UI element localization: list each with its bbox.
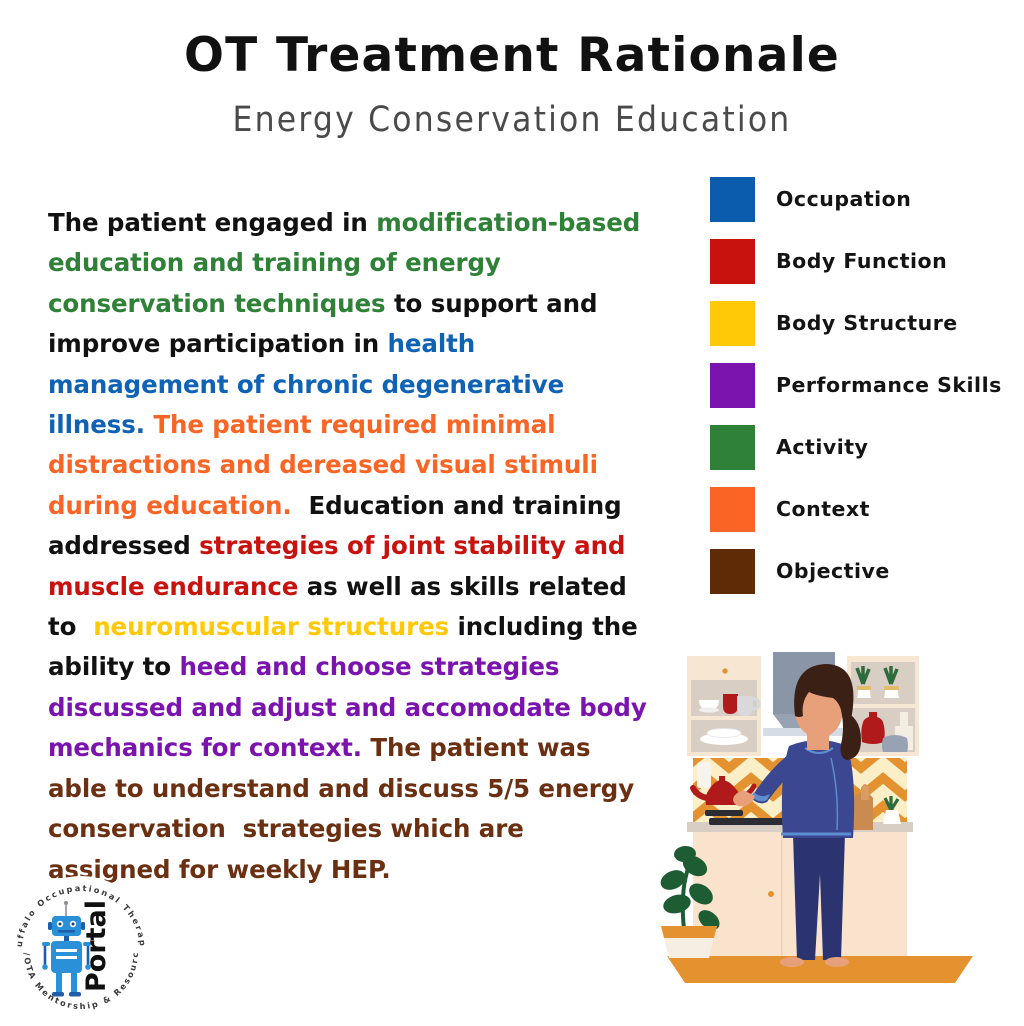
- legend-label: Body Function: [776, 249, 947, 273]
- legend-swatch-icon: [710, 239, 755, 284]
- header: OT Treatment Rationale Energy Conservati…: [0, 0, 1024, 140]
- logo-wordmark: Portal: [81, 900, 112, 992]
- legend-swatch-icon: [710, 301, 755, 346]
- legend-swatch-icon: [710, 425, 755, 470]
- legend-label: Activity: [776, 435, 868, 459]
- kitchen-scene-svg: [655, 638, 985, 983]
- rationale-segment-9: neuromuscular structures: [85, 612, 449, 641]
- legend-label: Body Structure: [776, 311, 958, 335]
- legend-item-objective: Objective: [710, 540, 1010, 602]
- legend-item-body-function: Body Function: [710, 230, 1010, 292]
- legend-swatch-icon: [710, 487, 755, 532]
- rationale-segment-0: The patient engaged in: [48, 208, 376, 237]
- legend-label: Occupation: [776, 187, 911, 211]
- legend-swatch-icon: [710, 363, 755, 408]
- legend-swatch-icon: [710, 549, 755, 594]
- legend-label: Performance Skills: [776, 373, 1002, 397]
- legend-swatch-icon: [710, 177, 755, 222]
- legend-item-performance-skills: Performance Skills: [710, 354, 1010, 416]
- legend: OccupationBody FunctionBody StructurePer…: [710, 168, 1010, 602]
- rationale-paragraph: The patient engaged in modification-base…: [48, 203, 648, 890]
- legend-item-occupation: Occupation: [710, 168, 1010, 230]
- logo-svg: Buffalo Occupational Therapy OT/OTA Ment…: [6, 872, 156, 1022]
- kitchen-illustration: [655, 638, 985, 983]
- legend-item-body-structure: Body Structure: [710, 292, 1010, 354]
- buffalo-ot-portal-logo: Buffalo Occupational Therapy OT/OTA Ment…: [6, 872, 156, 1022]
- page-subtitle: Energy Conservation Education: [0, 83, 1024, 140]
- legend-label: Context: [776, 497, 870, 521]
- legend-item-context: Context: [710, 478, 1010, 540]
- page-title: OT Treatment Rationale: [0, 0, 1024, 83]
- legend-label: Objective: [776, 559, 890, 583]
- legend-item-activity: Activity: [710, 416, 1010, 478]
